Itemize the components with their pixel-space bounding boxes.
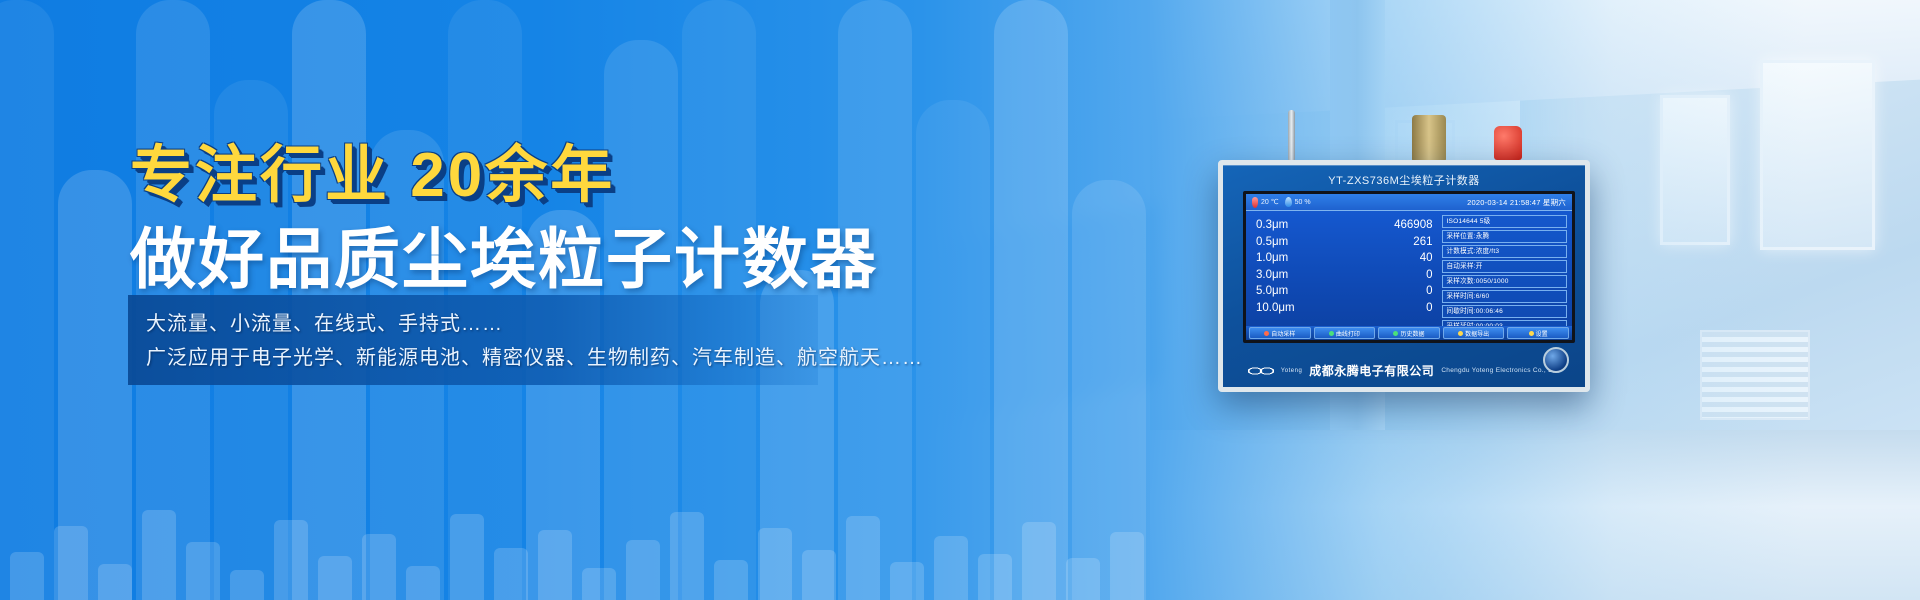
sensor-port	[1412, 115, 1446, 161]
humidity-chip: 50 %	[1285, 197, 1311, 207]
curve-print-button[interactable]: 曲线打印	[1314, 327, 1376, 339]
particle-counter-device: YT-ZXS736M尘埃粒子计数器 20 ℃ 50 % 2020-03-14 2…	[1218, 160, 1590, 392]
brand-name-cn: 成都永腾电子有限公司	[1309, 362, 1434, 379]
particle-row: 3.0μm 0	[1256, 267, 1432, 284]
status-dot-icon	[1264, 331, 1269, 336]
particle-row: 0.3μm 466908	[1256, 217, 1432, 234]
particle-row: 1.0μm 40	[1256, 250, 1432, 267]
button-label: 历史数据	[1400, 329, 1424, 338]
info-row: 计数模式:浓度/ft3	[1442, 245, 1567, 258]
temperature-value: 20 ℃	[1261, 198, 1279, 206]
particle-size: 0.5μm	[1256, 234, 1288, 251]
feature-line-1: 大流量、小流量、在线式、手持式……	[146, 307, 818, 341]
button-label: 数据导出	[1465, 329, 1489, 338]
info-row: 自动采样:开	[1442, 260, 1567, 273]
brand-logo-text: Yoteng	[1281, 368, 1302, 374]
lcd-status-bar: 20 ℃ 50 % 2020-03-14 21:58:47 星期六	[1246, 194, 1572, 211]
history-data-button[interactable]: 历史数据	[1378, 327, 1440, 339]
thermometer-icon	[1252, 197, 1258, 208]
bottom-bar-pattern	[0, 495, 1150, 600]
antenna-rod	[1288, 110, 1295, 162]
particle-row: 10.0μm 0	[1256, 300, 1432, 317]
info-row: 采样时间:6/60	[1442, 290, 1567, 303]
data-export-button[interactable]: 数据导出	[1443, 327, 1505, 339]
particle-count: 0	[1426, 283, 1432, 300]
feature-info-band: 大流量、小流量、在线式、手持式…… 广泛应用于电子光学、新能源电池、精密仪器、生…	[128, 295, 818, 385]
particle-size: 10.0μm	[1256, 300, 1295, 317]
lcd-content: 0.3μm 466908 0.5μm 261 1.0μm 40 3.0μm 0	[1246, 211, 1572, 343]
particle-size: 1.0μm	[1256, 250, 1288, 267]
info-row: ISO14644 5级	[1442, 215, 1567, 228]
alarm-lamp	[1494, 126, 1522, 160]
device-brand-row: Yoteng 成都永腾电子有限公司 Chengdu Yoteng Electro…	[1223, 362, 1585, 379]
particle-readings-list: 0.3μm 466908 0.5μm 261 1.0μm 40 3.0μm 0	[1246, 211, 1440, 343]
hero-headline: 专注行业 20余年	[130, 124, 615, 214]
power-knob[interactable]	[1543, 347, 1569, 373]
status-dot-icon	[1529, 331, 1534, 336]
particle-count: 0	[1426, 300, 1432, 317]
particle-count: 466908	[1394, 217, 1432, 234]
lcd-button-bar: 自动采样 曲线打印 历史数据 数据导出 设置	[1246, 326, 1572, 340]
hero-banner: 专注行业 20余年 做好品质尘埃粒子计数器 大流量、小流量、在线式、手持式…… …	[0, 0, 1920, 600]
temperature-chip: 20 ℃	[1252, 197, 1279, 208]
device-model-label: YT-ZXS736M尘埃粒子计数器	[1223, 172, 1585, 188]
yoteng-logo-icon	[1248, 364, 1274, 377]
particle-count: 40	[1420, 250, 1433, 267]
particle-row: 0.5μm 261	[1256, 234, 1432, 251]
status-dot-icon	[1393, 331, 1398, 336]
brand-name-en: Chengdu Yoteng Electronics Co., Ltd.	[1441, 367, 1560, 374]
button-label: 设置	[1536, 329, 1548, 338]
info-row: 采样次数:0050/1000	[1442, 275, 1567, 288]
particle-row: 5.0μm 0	[1256, 283, 1432, 300]
particle-size: 5.0μm	[1256, 283, 1288, 300]
humidity-value: 50 %	[1295, 199, 1311, 206]
info-row: 间歇时间:00:06:46	[1442, 305, 1567, 318]
particle-count: 0	[1426, 267, 1432, 284]
particle-size: 0.3μm	[1256, 217, 1288, 234]
sampling-info-panel: ISO14644 5级 采样位置:永腾 计数模式:浓度/ft3 自动采样:开 采…	[1440, 211, 1572, 343]
device-lcd-screen[interactable]: 20 ℃ 50 % 2020-03-14 21:58:47 星期六 0.3μm …	[1243, 191, 1575, 343]
feature-line-2: 广泛应用于电子光学、新能源电池、精密仪器、生物制药、汽车制造、航空航天……	[146, 341, 818, 375]
settings-button[interactable]: 设置	[1507, 327, 1569, 339]
datetime-label: 2020-03-14 21:58:47 星期六	[1467, 197, 1566, 208]
auto-sample-button[interactable]: 自动采样	[1249, 327, 1311, 339]
particle-size: 3.0μm	[1256, 267, 1288, 284]
hero-subheadline: 做好品质尘埃粒子计数器	[130, 206, 878, 302]
button-label: 曲线打印	[1336, 329, 1360, 338]
button-label: 自动采样	[1271, 329, 1295, 338]
water-drop-icon	[1285, 197, 1292, 207]
info-row: 采样位置:永腾	[1442, 230, 1567, 243]
status-dot-icon	[1329, 331, 1334, 336]
status-dot-icon	[1458, 331, 1463, 336]
particle-count: 261	[1413, 234, 1432, 251]
